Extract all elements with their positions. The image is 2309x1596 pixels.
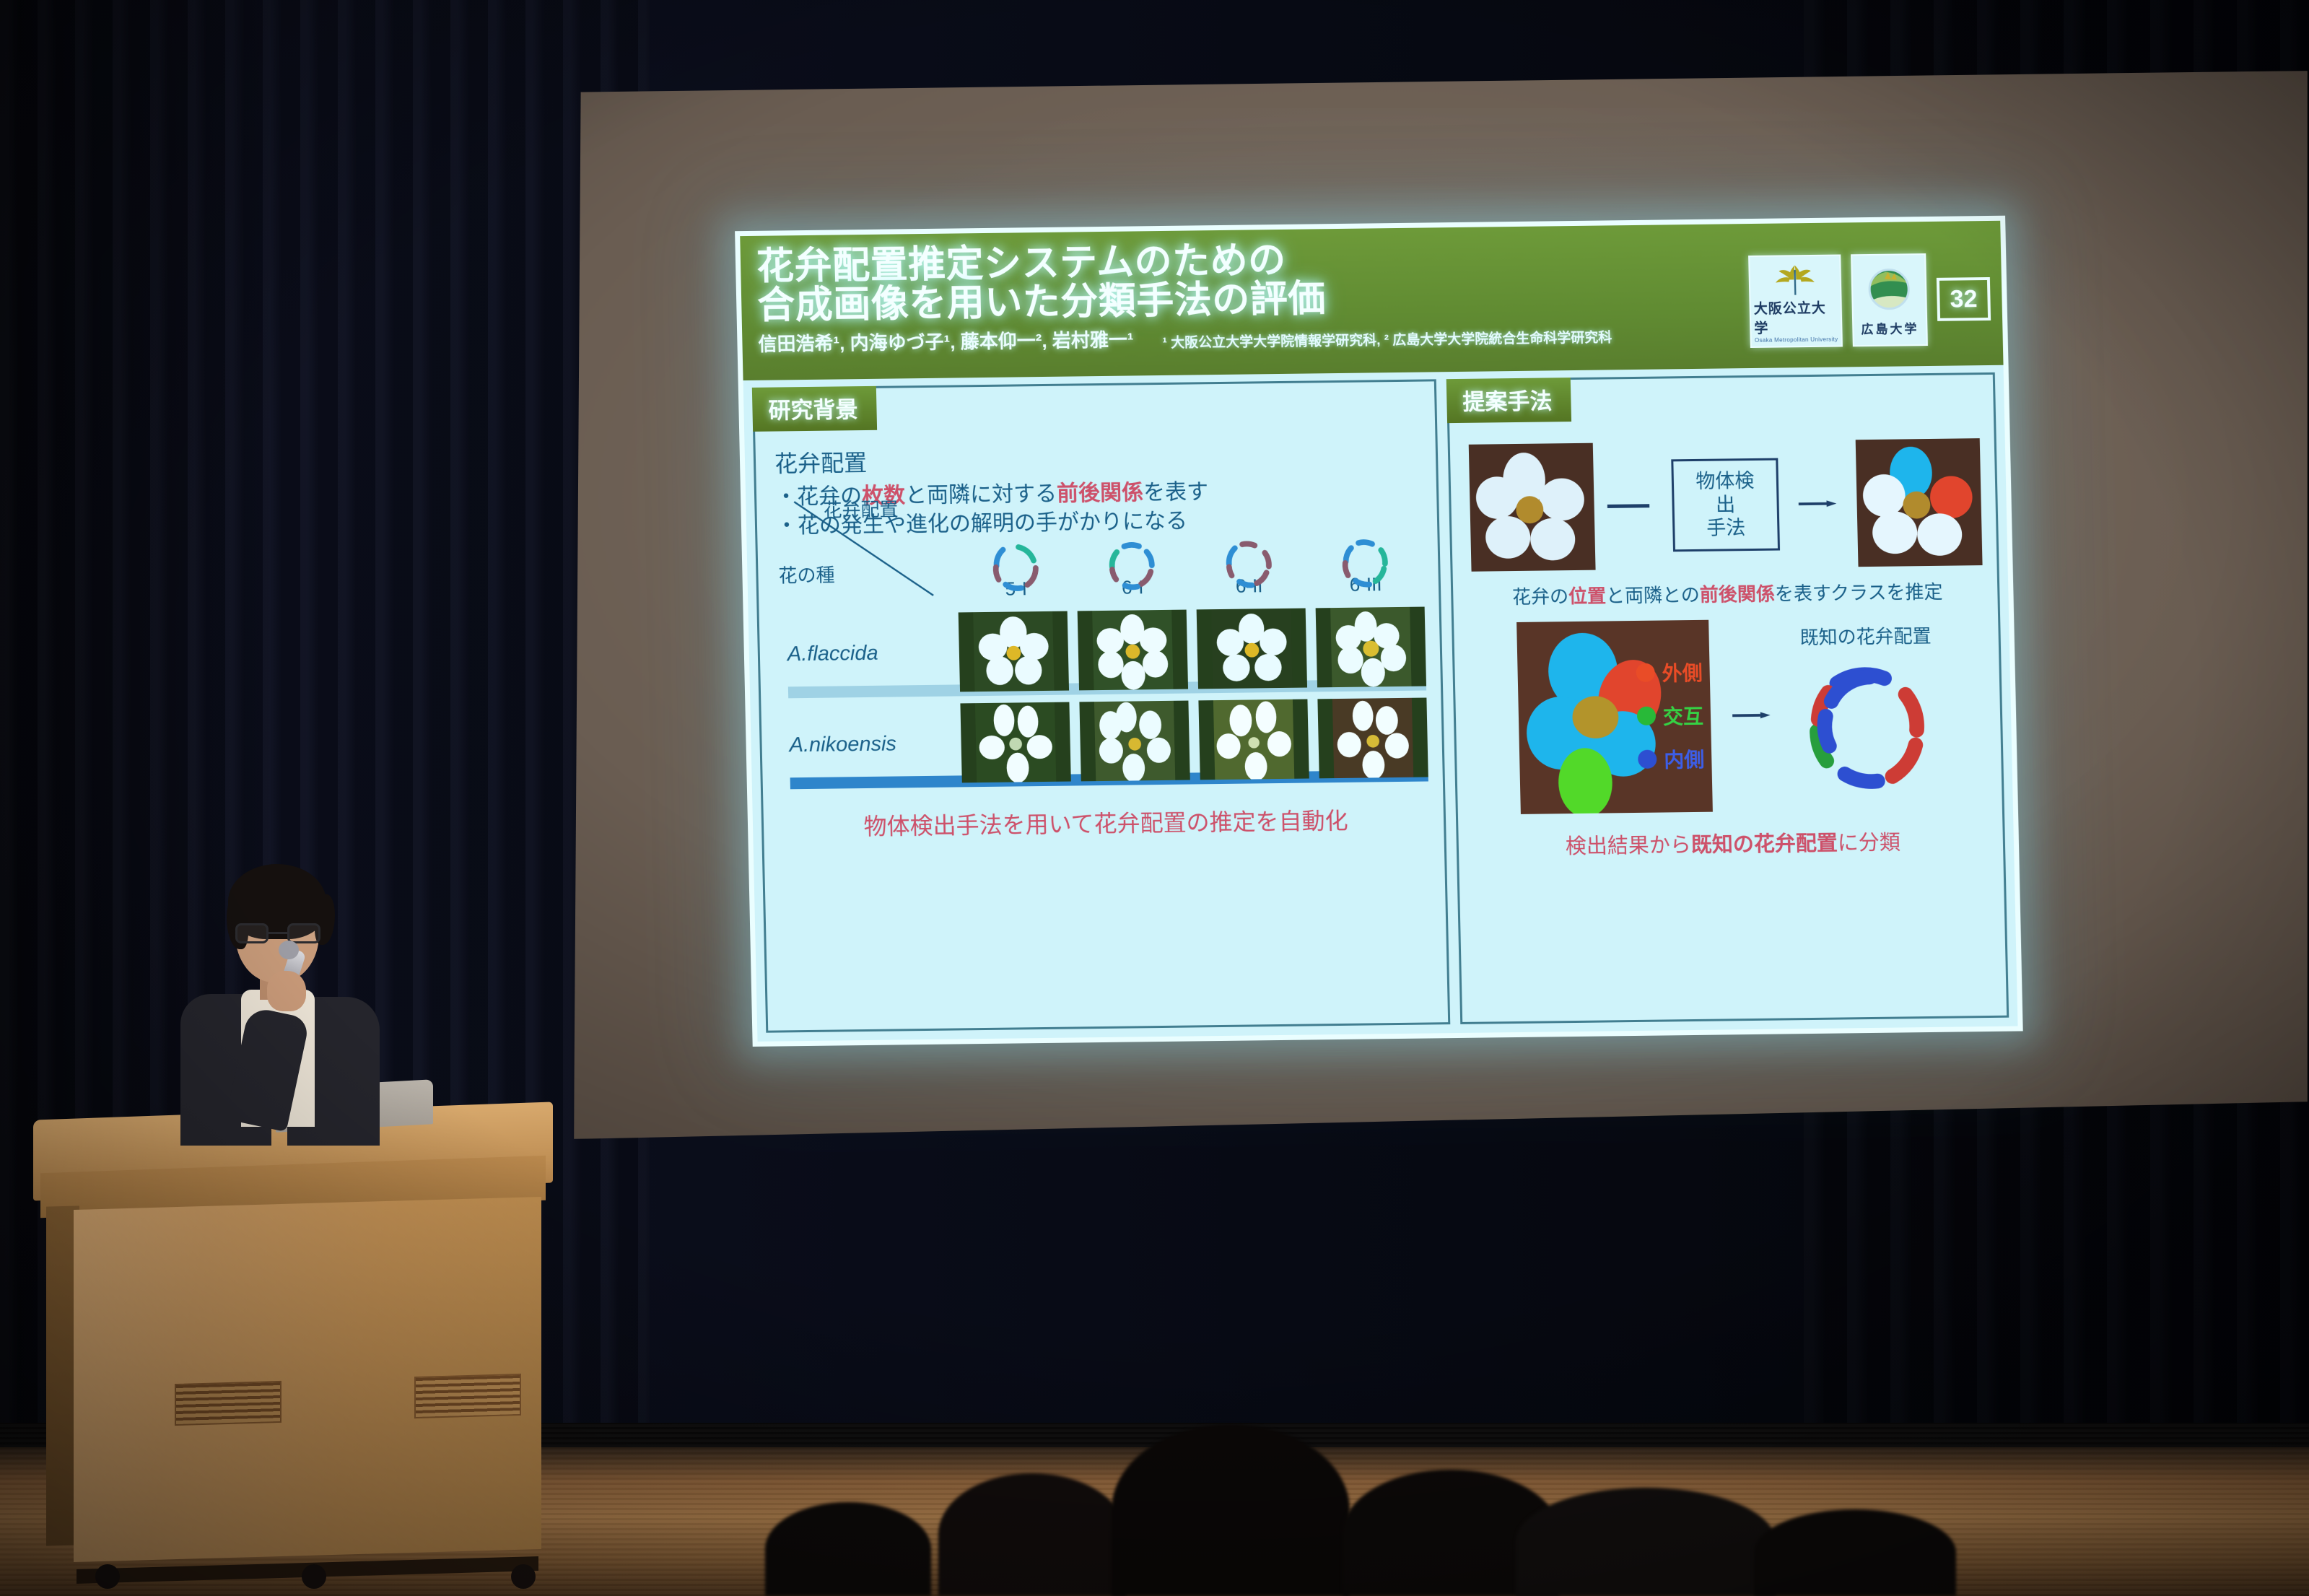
bullet1-suffix: を表す (1143, 480, 1209, 505)
legend-dot-outer (1636, 663, 1655, 682)
pipeline-arrow-icon (1787, 500, 1848, 507)
petal-arc-diagram-icon (1101, 534, 1164, 597)
legend-label-inner: 内側 (1664, 744, 1705, 774)
object-detection-method-box: 物体検出 手法 (1671, 458, 1779, 552)
caption-suffix: を表すクラスを推定 (1775, 581, 1943, 605)
presenter-glasses (235, 923, 320, 943)
species-thumbnails-a-nikoensis (960, 698, 1428, 783)
microphone-head (279, 941, 299, 959)
flower-photo-icon (1197, 609, 1307, 689)
slide-number-badge: 32 (1937, 277, 1991, 321)
known-arrangement-label: 既知の花弁配置 (1791, 622, 1940, 650)
flower-thumbnail (960, 702, 1070, 783)
slide-title-band: 花弁配置推定システムのための 合成画像を用いた分類手法の評価 信田浩希¹, 内海… (740, 221, 2003, 380)
detection-box-line2: 手法 (1688, 516, 1764, 541)
legend-item-outer: 外側 (1636, 658, 1703, 687)
conclusion2-prefix: 検出結果から (1566, 834, 1692, 858)
omu-logo-subtitle: Osaka Metropolitan University (1755, 336, 1838, 344)
audience-head-silhouette (765, 1502, 931, 1596)
petal-arc-diagram-icon (984, 536, 1047, 598)
flower-photo-icon (1078, 610, 1188, 691)
right-panel-conclusion: 検出結果から既知の花弁配置に分類 (1477, 824, 1989, 861)
caption-highlight-1: 位置 (1568, 585, 1607, 607)
input-flower-image (1469, 443, 1596, 572)
hu-globe-mark-icon (1862, 264, 1916, 317)
omu-logo-name: 大阪公立大学 (1753, 297, 1838, 337)
petal-arc-diagram-icon (1217, 533, 1280, 596)
podium-caster (95, 1564, 120, 1589)
flower-thumbnail (1317, 698, 1428, 779)
species-label-a-flaccida: A.flaccida (779, 640, 960, 666)
flower-photo-icon (1317, 698, 1428, 779)
arrangement-diagram-6-II (1190, 531, 1307, 598)
podium-caster (302, 1564, 326, 1589)
petal-arc-diagram-icon (1334, 531, 1397, 594)
classification-arrow-icon (1721, 711, 1783, 719)
audience-head-silhouette (1754, 1509, 1956, 1596)
flower-photo-icon (1079, 701, 1190, 782)
species-thumbnails-a-flaccida (959, 607, 1426, 692)
detected-flower-icon (1856, 438, 1983, 567)
known-arrangement-group: 既知の花弁配置 (1791, 622, 1944, 806)
conclusion2-suffix: に分類 (1838, 832, 1901, 855)
glasses-lens-left (235, 923, 269, 943)
presenter (160, 863, 398, 1166)
legend-dot-inner (1638, 750, 1657, 769)
arrangement-diagram-5-I (956, 533, 1074, 601)
arrangement-diagram-row (956, 529, 1424, 601)
slide-logo-row: 大阪公立大学 Osaka Metropolitan University 広島大… (1748, 253, 1991, 348)
petal-arrangement-table: 花弁配置 花の種 5-I 6-I 6-II 6-III (777, 552, 1428, 785)
speaker-podium (33, 1111, 553, 1573)
species-label-a-nikoensis: A.nikoensis (780, 731, 961, 757)
podium-vent-left (175, 1381, 281, 1426)
projected-slide: 花弁配置推定システムのための 合成画像を用いた分類手法の評価 信田浩希¹, 内海… (735, 216, 2023, 1047)
slide-body: 研究背景 花弁配置 ・花弁の枚数と両隣に対する前後関係を表す ・花の発生や進化の… (743, 365, 2018, 1042)
table-corner-axes: 花弁配置 花の種 (775, 493, 958, 603)
podium-vent-right (414, 1374, 521, 1418)
detection-pipeline: 物体検出 手法 (1469, 438, 1983, 572)
hiroshima-university-logo: 広島大学 (1851, 253, 1928, 346)
input-flower-icon (1469, 443, 1596, 572)
table-column-axis-label: 花弁配置 (823, 495, 899, 523)
caption-mid: と両隣との (1606, 584, 1700, 607)
left-panel-conclusion: 物体検出手法を用いて花弁配置の推定を自動化 (782, 802, 1430, 843)
author-list: 信田浩希¹, 内海ゆづ子¹, 藤本仰一², 岩村雅一¹ (758, 326, 1134, 357)
flower-photo-icon (1198, 699, 1309, 780)
flower-thumbnail (1197, 609, 1307, 689)
legend-label-alternate: 交互 (1663, 701, 1704, 731)
left-panel-heading: 花弁配置 (774, 438, 1422, 479)
flower-photo-icon (1316, 607, 1426, 688)
right-panel-caption: 花弁の位置と両隣との前後関係を表すクラスを推定 (1472, 577, 1983, 610)
omu-palm-mark-icon (1765, 261, 1824, 297)
flower-thumbnail (959, 611, 1069, 692)
arrangement-diagram-6-I (1073, 532, 1191, 600)
panel-proposed-method: 提案手法 (1446, 372, 2009, 1024)
affiliation-list: ¹ 大阪公立大学大学院情報学研究科, ² 広島大学大学院統合生命科学研究科 (1162, 327, 1612, 352)
conclusion2-highlight: 既知の花弁配置 (1691, 832, 1838, 857)
caption-highlight-2: 前後関係 (1700, 583, 1776, 606)
caption-prefix: 花弁の (1512, 585, 1569, 608)
podium-caster (511, 1564, 536, 1589)
hu-logo-name: 広島大学 (1861, 318, 1919, 337)
panel-tab-research-background: 研究背景 (752, 386, 877, 432)
flower-thumbnail (1316, 607, 1426, 688)
bullet1-highlight-2: 前後関係 (1057, 481, 1144, 505)
pipeline-arrow-icon (1603, 502, 1664, 510)
table-row: A.flaccida (778, 607, 1426, 694)
flower-photo-icon (959, 611, 1069, 692)
presentation-photo-scene: 花弁配置推定システムのための 合成画像を用いた分類手法の評価 信田浩希¹, 内海… (0, 0, 2309, 1596)
legend-label-outer: 外側 (1662, 658, 1703, 687)
panel-research-background: 研究背景 花弁配置 ・花弁の枚数と両隣に対する前後関係を表す ・花の発生や進化の… (752, 379, 1450, 1032)
flower-thumbnail (1078, 610, 1188, 691)
glasses-bridge (269, 932, 287, 934)
legend-item-inner: 内側 (1638, 744, 1705, 774)
table-row: A.nikoensis (780, 698, 1428, 785)
panel-tab-proposed-method: 提案手法 (1446, 378, 1571, 423)
audience-head-silhouette (1112, 1424, 1350, 1596)
class-legend: 外側 交互 内側 (1636, 658, 1705, 788)
table-row-axis-label: 花の種 (778, 561, 835, 588)
detected-flower-image (1856, 438, 1983, 567)
classification-row: 外側 交互 内側 (1472, 616, 1988, 815)
presenter-hand (267, 971, 306, 1011)
flower-thumbnail (1079, 701, 1190, 782)
audience-head-silhouette (1516, 1488, 1776, 1596)
osaka-metropolitan-university-logo: 大阪公立大学 Osaka Metropolitan University (1748, 254, 1843, 348)
legend-item-alternate: 交互 (1637, 701, 1704, 731)
flower-thumbnail (1198, 699, 1309, 780)
glasses-lens-right (287, 923, 320, 943)
known-arrangement-diagram-icon (1791, 653, 1943, 803)
flower-photo-icon (960, 702, 1070, 783)
arrangement-diagram-6-III (1306, 529, 1424, 597)
segmented-flower-image: 外側 交互 内側 (1516, 620, 1713, 814)
detection-box-line1: 物体検出 (1687, 468, 1764, 517)
audience-head-silhouette (938, 1473, 1126, 1596)
legend-dot-alternate (1637, 707, 1657, 725)
